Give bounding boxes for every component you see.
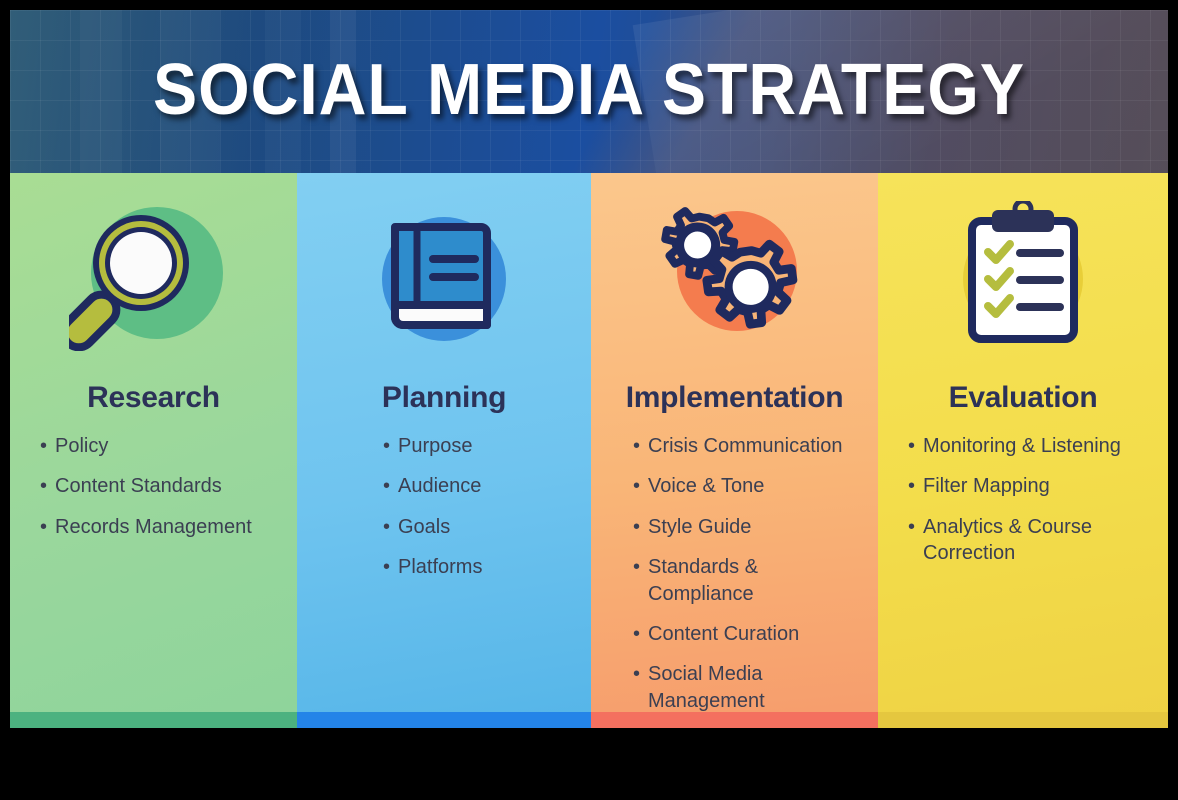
list-item: Content Standards [40, 473, 283, 499]
bullet-list-planning: Purpose Audience Goals Platforms [383, 433, 577, 581]
page-title: SOCIAL MEDIA STRATEGY [56, 48, 1121, 132]
column-research[interactable]: Research Policy Content Standards Record… [10, 173, 297, 728]
column-heading-evaluation: Evaluation [878, 381, 1168, 415]
gears-icon [645, 201, 825, 351]
list-item: Policy [40, 433, 283, 459]
column-heading-research: Research [10, 381, 297, 415]
bullet-list-implementation: Crisis Communication Voice & Tone Style … [633, 433, 866, 714]
accent-bar-evaluation [878, 712, 1168, 728]
clipboard-checklist-icon [938, 201, 1108, 351]
list-item: Purpose [383, 433, 577, 459]
infographic-canvas: SOCIAL MEDIA STRATEGY Research Polic [10, 10, 1168, 728]
strategy-columns: Research Policy Content Standards Record… [10, 173, 1168, 728]
list-item: Analytics & Course Correction [908, 514, 1154, 567]
bullet-list-evaluation: Monitoring & Listening Filter Mapping An… [908, 433, 1154, 567]
accent-bar-implementation [591, 712, 878, 728]
column-implementation[interactable]: Implementation Crisis Communication Voic… [591, 173, 878, 728]
column-planning[interactable]: Planning Purpose Audience Goals Platform… [297, 173, 591, 728]
list-item: Style Guide [633, 514, 866, 540]
evaluation-icon-area [878, 201, 1168, 351]
list-item: Platforms [383, 554, 577, 580]
list-item: Monitoring & Listening [908, 433, 1154, 459]
accent-bar-planning [297, 712, 591, 728]
column-heading-implementation: Implementation [591, 381, 878, 415]
book-icon [359, 201, 529, 351]
bullet-list-research: Policy Content Standards Records Managem… [40, 433, 283, 540]
research-icon-area [10, 201, 297, 351]
column-evaluation[interactable]: Evaluation Monitoring & Listening Filter… [878, 173, 1168, 728]
list-item: Voice & Tone [633, 473, 866, 499]
list-item: Standards & Compliance [633, 554, 866, 607]
list-item: Crisis Communication [633, 433, 866, 459]
accent-bar-research [10, 712, 297, 728]
list-item: Records Management [40, 514, 283, 540]
list-item: Audience [383, 473, 577, 499]
header-banner: SOCIAL MEDIA STRATEGY [10, 10, 1168, 173]
list-item: Content Curation [633, 621, 866, 647]
implementation-icon-area [591, 201, 878, 351]
planning-icon-area [297, 201, 591, 351]
list-item: Filter Mapping [908, 473, 1154, 499]
list-item: Social Media Management [633, 661, 866, 714]
magnifying-glass-icon [69, 201, 239, 351]
column-heading-planning: Planning [297, 381, 591, 415]
list-item: Goals [383, 514, 577, 540]
